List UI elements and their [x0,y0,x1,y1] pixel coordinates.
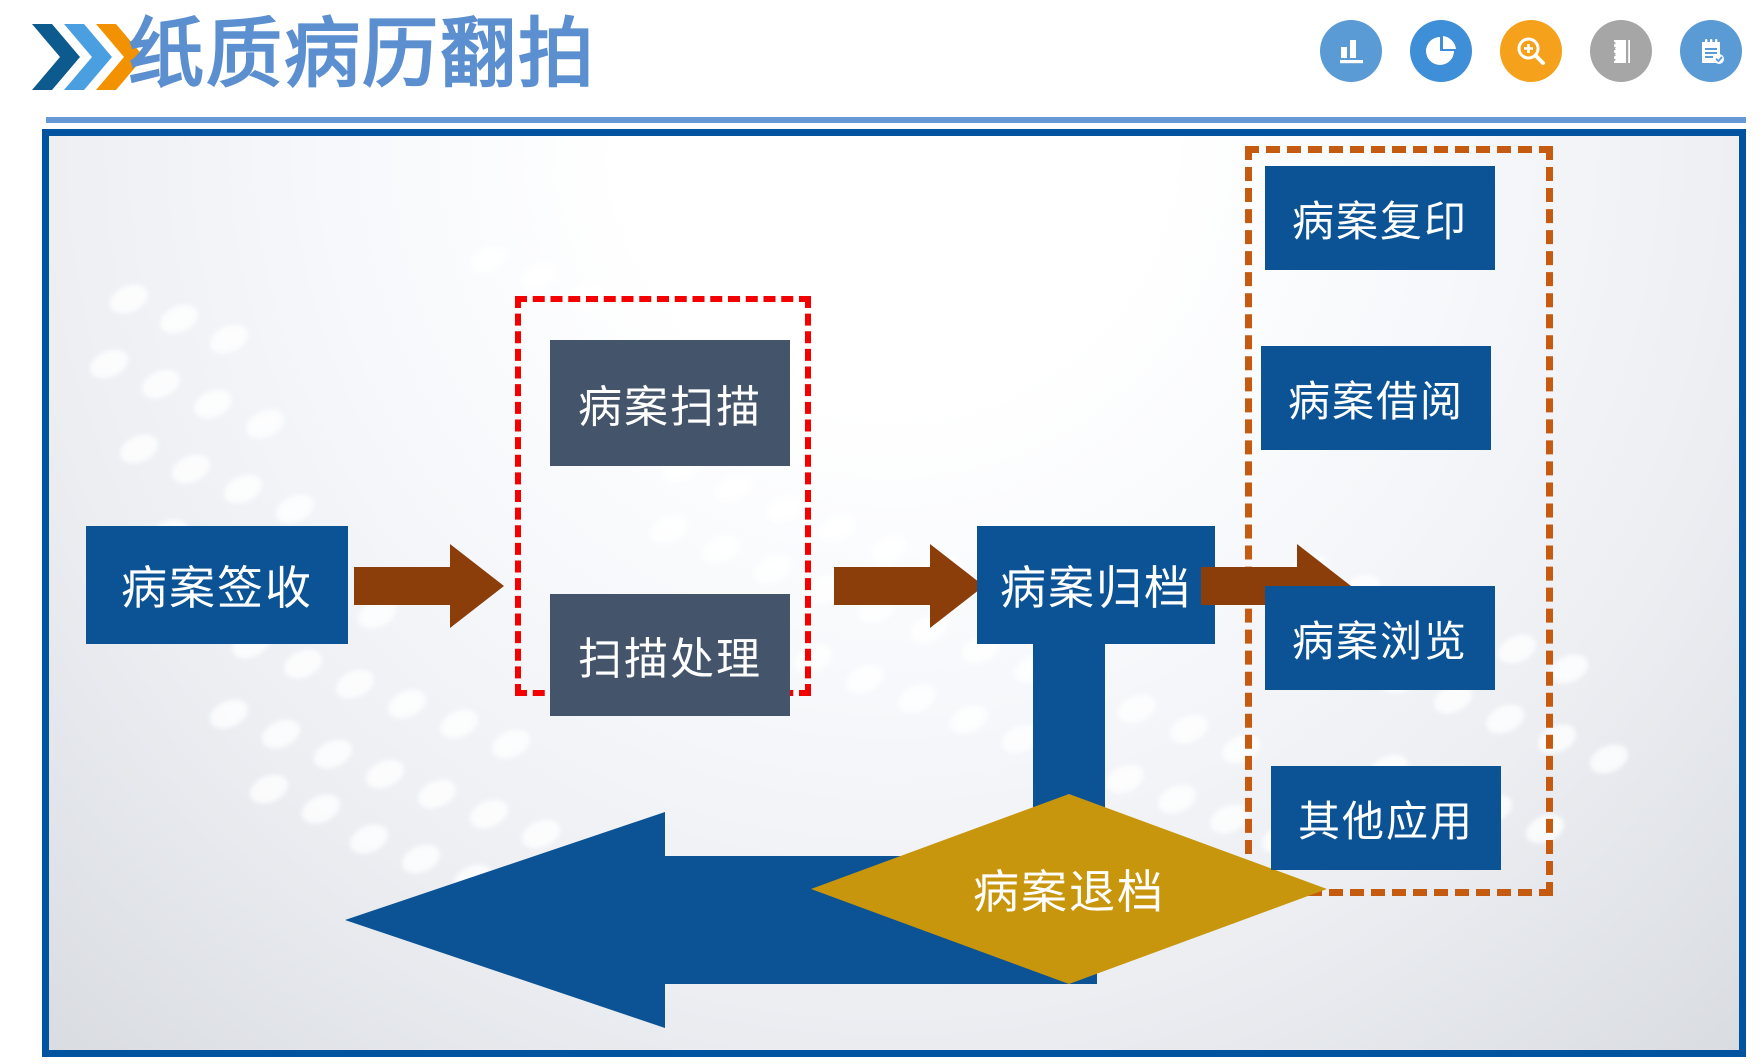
node-app-copy[interactable]: 病案复印 [1265,166,1495,270]
node-receive[interactable]: 病案签收 [86,526,348,644]
node-receive-label: 病案签收 [121,552,313,618]
node-archive[interactable]: 病案归档 [977,526,1215,644]
node-scan-process-label: 扫描处理 [578,623,762,687]
diagram-frame: 病案签收 病案扫描 扫描处理 病案归档 [42,129,1746,1057]
node-app-browse[interactable]: 病案浏览 [1265,586,1495,690]
node-scan[interactable]: 病案扫描 [550,340,790,466]
notebook-icon[interactable] [1590,20,1652,82]
node-app-browse-label: 病案浏览 [1292,608,1468,669]
node-app-copy-label: 病案复印 [1292,188,1468,249]
node-app-other-label: 其他应用 [1298,788,1474,849]
node-app-other[interactable]: 其他应用 [1271,766,1501,870]
node-scan-process[interactable]: 扫描处理 [550,594,790,716]
header-divider [46,117,1746,123]
pie-chart-icon[interactable] [1410,20,1472,82]
node-archive-label: 病案归档 [1000,552,1192,618]
page-title: 纸质病历翻拍 [128,7,596,101]
zoom-in-icon[interactable] [1500,20,1562,82]
slide-header: 纸质病历翻拍 [0,0,1764,118]
bar-chart-icon[interactable] [1320,20,1382,82]
arrow-scan-to-archive [834,540,984,632]
header-icon-row [1320,20,1742,82]
slide-root: 纸质病历翻拍 [0,0,1764,1064]
node-app-borrow[interactable]: 病案借阅 [1261,346,1491,450]
node-app-borrow-label: 病案借阅 [1288,368,1464,429]
node-scan-label: 病案扫描 [578,371,762,435]
node-return-diamond[interactable]: 病案退档 [811,794,1327,984]
checklist-icon[interactable] [1680,20,1742,82]
node-return-label: 病案退档 [811,794,1327,984]
arrow-receive-to-scan [354,540,504,632]
chevron-logo [30,18,140,96]
